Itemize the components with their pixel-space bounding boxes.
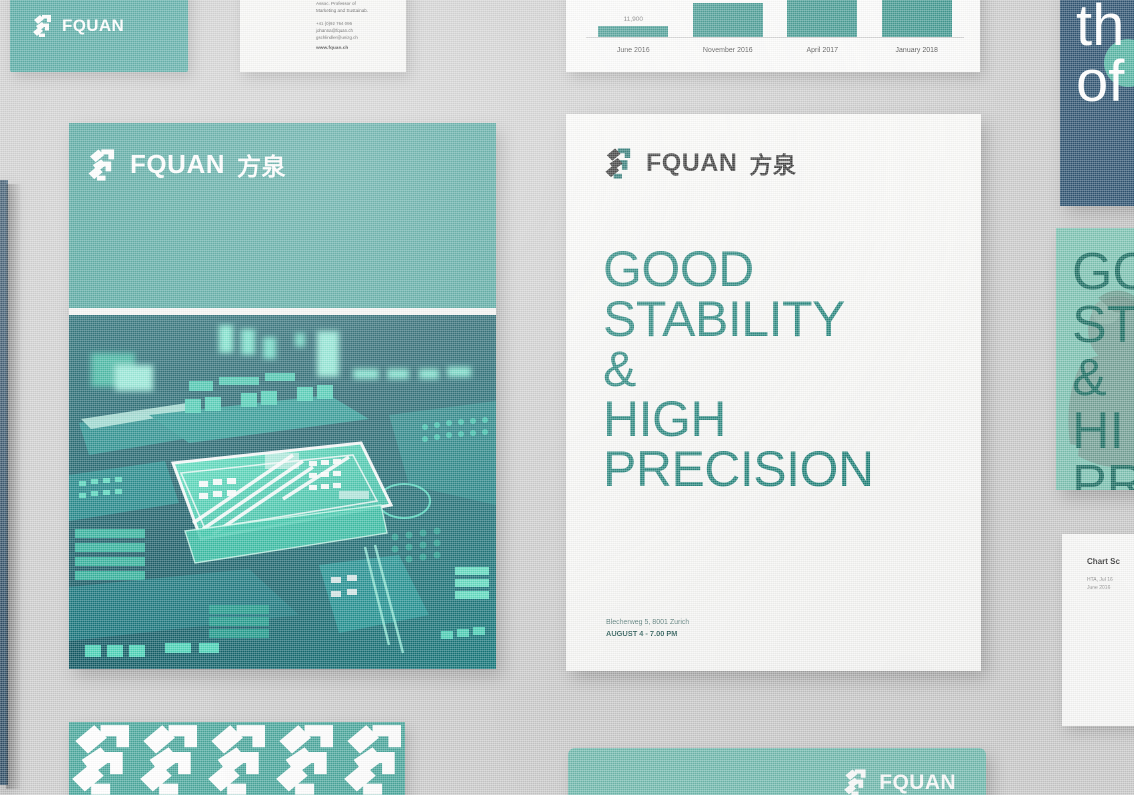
card-website: www.fquan.ch bbox=[316, 46, 400, 51]
chart-sheet-subtitle: HTA, Jul 16 June 2016 bbox=[1087, 576, 1113, 592]
poster-date: AUGUST 4 - 7.00 PM bbox=[606, 629, 689, 638]
poster-headline-line-4: HIGH bbox=[603, 394, 874, 444]
chart-x-tick-labels: June 2016November 2016April 2017January … bbox=[586, 47, 964, 54]
teal-poster-headline-line-5: PR bbox=[1072, 458, 1134, 490]
wordmark: FQUAN bbox=[646, 149, 737, 178]
chart-x-tick-label: June 2016 bbox=[586, 47, 681, 54]
chart-plot-area: 11,90034,000 bbox=[586, 0, 964, 38]
teal-poster-headline-line-3: & bbox=[1072, 352, 1134, 405]
poster-headline-line-3: & bbox=[603, 344, 874, 394]
fquan-chevron-logo-icon bbox=[87, 148, 117, 182]
logo-lockup: FQUAN 方泉 bbox=[604, 146, 796, 180]
navy-headline-line-1: th bbox=[1076, 0, 1134, 54]
wordmark: FQUAN bbox=[130, 149, 225, 180]
white-business-card: Technology Ltd. Prof.Dr.Johanna Schlindl… bbox=[240, 0, 406, 72]
poster-headline-line-2: STABILITY bbox=[603, 294, 874, 344]
chart-sheet: Chart Sc HTA, Jul 16 June 2016 bbox=[1062, 534, 1134, 726]
teal-poster-headline-line-2: ST bbox=[1072, 299, 1134, 352]
fquan-chevron-logo-icon bbox=[604, 147, 633, 180]
teal-poster-headline-line-4: HI bbox=[1072, 405, 1134, 458]
card-contact: +41 (0)92 764 095 johanna@fquan.ch gschl… bbox=[316, 20, 400, 41]
fquan-chevron-logo-icon bbox=[32, 14, 53, 38]
logo-lockup: FQUAN bbox=[843, 768, 956, 795]
wordmark-cjk: 方泉 bbox=[237, 147, 286, 182]
poster-headline-line-5: PRECISION bbox=[603, 444, 874, 494]
wordmark-cjk: 方泉 bbox=[749, 146, 796, 180]
navy-headline-line-2: of bbox=[1076, 54, 1134, 110]
chart-value-label: 11,900 bbox=[624, 16, 643, 23]
circuit-board-illustration bbox=[69, 315, 496, 669]
fquan-chevron-logo-icon bbox=[843, 768, 868, 795]
brochure-cover: FQUAN 方泉 bbox=[69, 123, 496, 669]
chart-bar-group bbox=[775, 0, 870, 38]
teal-poster-variant: GOST&HIPR bbox=[1056, 228, 1134, 490]
mockup-board: FQUAN Technology Ltd. Prof.Dr.Johanna Sc… bbox=[0, 0, 1134, 795]
chart-bar-group: 34,000 bbox=[681, 0, 776, 38]
poster-footer: Blecherweg 5, 8001 Zurich AUGUST 4 - 7.0… bbox=[606, 619, 689, 638]
wordmark: FQUAN bbox=[62, 16, 124, 36]
navy-poster-card: th of bbox=[1060, 0, 1134, 206]
card-role: Assoc. Professor of Marketing and Sustai… bbox=[316, 0, 400, 14]
chart-x-tick-label: April 2017 bbox=[775, 47, 870, 54]
logo-lockup: FQUAN 方泉 bbox=[87, 147, 286, 182]
card-details: Prof.Dr.Johanna Schlindler Assoc. Profes… bbox=[316, 0, 400, 51]
chart-bar bbox=[882, 0, 952, 38]
chart-x-tick-label: November 2016 bbox=[681, 47, 776, 54]
poster-headline: GOODSTABILITY&HIGHPRECISION bbox=[603, 244, 874, 494]
bar-chart-card: 11,90034,000 June 2016November 2016April… bbox=[566, 0, 980, 72]
fabric-folder: FQUAN bbox=[568, 748, 986, 795]
event-poster: FQUAN 方泉 GOODSTABILITY&HIGHPRECISION Ble… bbox=[566, 114, 981, 671]
chart-bar bbox=[787, 0, 857, 38]
chart-bar-group: 11,900 bbox=[586, 0, 681, 38]
poster-headline-line-1: GOOD bbox=[603, 244, 874, 294]
logo-pattern-strip bbox=[69, 722, 405, 795]
repeating-logo-pattern-icon bbox=[69, 722, 405, 795]
chart-bar-group bbox=[870, 0, 965, 38]
chart-x-axis bbox=[586, 37, 964, 38]
circuit-board-photo bbox=[69, 315, 496, 669]
teal-business-card: FQUAN bbox=[10, 0, 188, 72]
poster-address: Blecherweg 5, 8001 Zurich bbox=[606, 619, 689, 626]
teal-poster-headline: GOST&HIPR bbox=[1072, 246, 1134, 490]
wordmark: FQUAN bbox=[879, 771, 956, 795]
chart-x-tick-label: January 2018 bbox=[870, 47, 965, 54]
navy-book-edge bbox=[0, 180, 8, 785]
teal-poster-headline-line-1: GO bbox=[1072, 246, 1134, 299]
chart-sheet-title: Chart Sc bbox=[1087, 557, 1120, 566]
chart-bar bbox=[693, 3, 763, 38]
logo-lockup: FQUAN bbox=[32, 14, 188, 38]
navy-headline: th of bbox=[1060, 0, 1134, 109]
brochure-header-band: FQUAN 方泉 bbox=[69, 123, 496, 308]
